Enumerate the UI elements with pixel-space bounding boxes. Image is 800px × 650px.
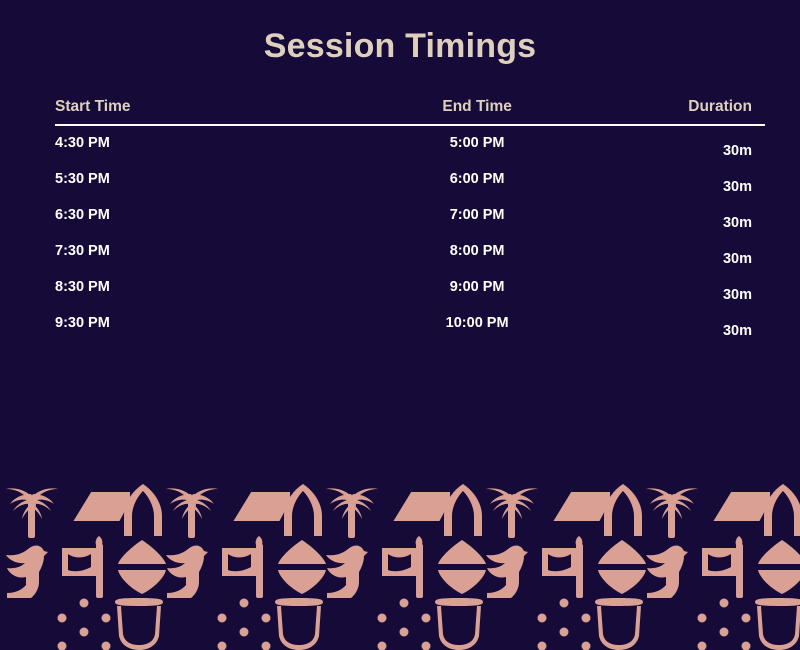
dots-icon: [696, 598, 752, 650]
cell-duration: 30m: [605, 270, 765, 304]
flag-icon: [58, 536, 114, 598]
palm-tree-icon: [642, 482, 702, 538]
table-row: 9:30 PM 10:00 PM 30m: [55, 306, 765, 342]
ornament-tile: [160, 480, 320, 650]
table-row: 7:30 PM 8:00 PM 30m: [55, 234, 765, 270]
horse-head-icon: [638, 542, 694, 598]
schedule-table: Start Time End Time Duration 4:30 PM 5:0…: [55, 88, 765, 342]
cell-start-time: 4:30 PM: [55, 126, 350, 152]
column-header-duration: Duration: [605, 98, 765, 116]
arch-icon: [760, 482, 800, 538]
horse-head-icon: [318, 542, 374, 598]
page-title: Session Timings: [0, 0, 800, 66]
cell-end-time: 7:00 PM: [350, 198, 605, 224]
table-row: 8:30 PM 9:00 PM 30m: [55, 270, 765, 306]
cell-start-time: 6:30 PM: [55, 198, 350, 224]
basket-pot-icon: [592, 598, 646, 650]
flag-icon: [538, 536, 594, 598]
cell-start-time: 9:30 PM: [55, 306, 350, 332]
dots-icon: [216, 598, 272, 650]
cell-start-time: 5:30 PM: [55, 162, 350, 188]
palm-tree-icon: [482, 482, 542, 538]
cell-duration: 30m: [605, 306, 765, 340]
cell-end-time: 10:00 PM: [350, 306, 605, 332]
flag-icon: [698, 536, 754, 598]
basket-pot-icon: [272, 598, 326, 650]
dots-icon: [536, 598, 592, 650]
ornament-decoration-band: [0, 480, 800, 650]
flag-icon: [218, 536, 274, 598]
double-diamond-icon: [756, 538, 800, 596]
column-header-start-time: Start Time: [55, 98, 350, 116]
ornament-tile: [320, 480, 480, 650]
table-row: 6:30 PM 7:00 PM 30m: [55, 198, 765, 234]
table-header-row: Start Time End Time Duration: [55, 88, 765, 116]
table-row: 4:30 PM 5:00 PM 30m: [55, 126, 765, 162]
ornament-tile: [640, 480, 800, 650]
cell-start-time: 7:30 PM: [55, 234, 350, 260]
dots-icon: [56, 598, 112, 650]
palm-tree-icon: [2, 482, 62, 538]
cell-end-time: 5:00 PM: [350, 126, 605, 152]
basket-pot-icon: [432, 598, 486, 650]
horse-head-icon: [478, 542, 534, 598]
dots-icon: [376, 598, 432, 650]
palm-tree-icon: [322, 482, 382, 538]
horse-head-icon: [158, 542, 214, 598]
flag-icon: [378, 536, 434, 598]
basket-pot-icon: [112, 598, 166, 650]
horse-head-icon: [0, 542, 54, 598]
cell-duration: 30m: [605, 234, 765, 268]
cell-duration: 30m: [605, 126, 765, 160]
column-header-end-time: End Time: [350, 98, 605, 116]
cell-end-time: 9:00 PM: [350, 270, 605, 296]
cell-duration: 30m: [605, 198, 765, 232]
cell-end-time: 6:00 PM: [350, 162, 605, 188]
palm-tree-icon: [162, 482, 222, 538]
table-row: 5:30 PM 6:00 PM 30m: [55, 162, 765, 198]
cell-start-time: 8:30 PM: [55, 270, 350, 296]
cell-end-time: 8:00 PM: [350, 234, 605, 260]
basket-pot-icon: [752, 598, 800, 650]
cell-duration: 30m: [605, 162, 765, 196]
ornament-tile: [0, 480, 160, 650]
table-body: 4:30 PM 5:00 PM 30m 5:30 PM 6:00 PM 30m …: [55, 126, 765, 342]
ornament-tile: [480, 480, 640, 650]
